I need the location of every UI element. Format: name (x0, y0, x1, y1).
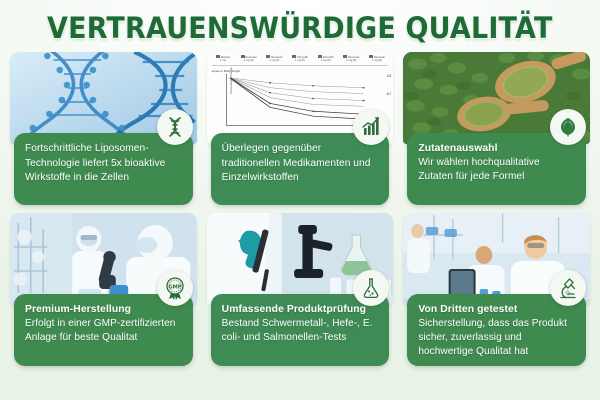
card-panel: Fortschrittliche Liposomen-Technologie l… (14, 133, 193, 205)
card-body-text: Sicherstellung, dass das Produkt sicher,… (418, 317, 575, 360)
card-title-text: Umfassende Produktprüfung (222, 303, 379, 317)
feature-card-ingredient-selection[interactable]: Zutatenauswahl Wir wählen hochqualitativ… (403, 52, 590, 205)
card-panel: Premium-Herstellung Erfolgt in einer GMP… (14, 294, 193, 366)
card-panel: Von Dritten getestet Sicherstellung, das… (407, 294, 586, 366)
feature-card-premium-manufacturing[interactable]: GMP Premium-Herstellung Erfolgt in einer… (10, 213, 197, 366)
card-panel: Zutatenauswahl Wir wählen hochqualitativ… (407, 133, 586, 205)
chart-series-label-1: -3.8 (386, 74, 392, 78)
chart-y-axis-label: Percentage Change (229, 67, 233, 94)
svg-text:GMP: GMP (168, 285, 181, 291)
card-panel: Überlegen gegenüber traditionellen Medik… (211, 133, 390, 205)
dna-icon (157, 109, 193, 145)
card-body-text: Wir wählen hochqualitative Zutaten für j… (418, 156, 575, 184)
feature-card-comprehensive-testing[interactable]: Umfassende Produktprüfung Bestand Schwer… (207, 213, 394, 366)
card-body-text: Fortschrittliche Liposomen-Technologie l… (25, 142, 182, 186)
card-body-text: Überlegen gegenüber traditionellen Medik… (222, 142, 379, 186)
microscope-icon (550, 270, 586, 306)
bar-chart-growth-icon (353, 109, 389, 145)
feature-card-liposomal-technology[interactable]: Fortschrittliche Liposomen-Technologie l… (10, 52, 197, 205)
chart-subtitle: anges in Body weight (212, 69, 389, 73)
card-title-text: Zutatenauswahl (418, 142, 575, 156)
chart-legend: Placebo1 mg Resveratr1 mg (R) Resveratr1… (212, 55, 389, 66)
feature-card-third-party-tested[interactable]: Von Dritten getestet Sicherstellung, das… (403, 213, 590, 366)
flask-icon (353, 270, 389, 306)
gmp-seal-icon: GMP (157, 270, 193, 306)
card-title-text: Premium-Herstellung (25, 303, 182, 317)
page-title: VERTRAUENSWÜRDIGE QUALITÄT (47, 11, 553, 45)
title-bar: VERTRAUENSWÜRDIGE QUALITÄT (0, 0, 600, 52)
chart-plot-area: Percentage Change (226, 74, 371, 126)
card-body-text: Erfolgt in einer GMP-zertifizierten Anla… (25, 317, 182, 345)
card-panel: Umfassende Produktprüfung Bestand Schwer… (211, 294, 390, 366)
feature-card-superior-to-traditional[interactable]: Placebo1 mg Resveratr1 mg (R) Resveratr1… (207, 52, 394, 205)
leaf-icon (550, 109, 586, 145)
feature-card-grid: Fortschrittliche Liposomen-Technologie l… (0, 52, 600, 366)
card-title-text: Von Dritten getestet (418, 303, 575, 317)
card-body-text: Bestand Schwermetall-, Hefe-, E. coli- u… (222, 317, 379, 345)
chart-series-label-2: -8.7 (386, 92, 392, 96)
